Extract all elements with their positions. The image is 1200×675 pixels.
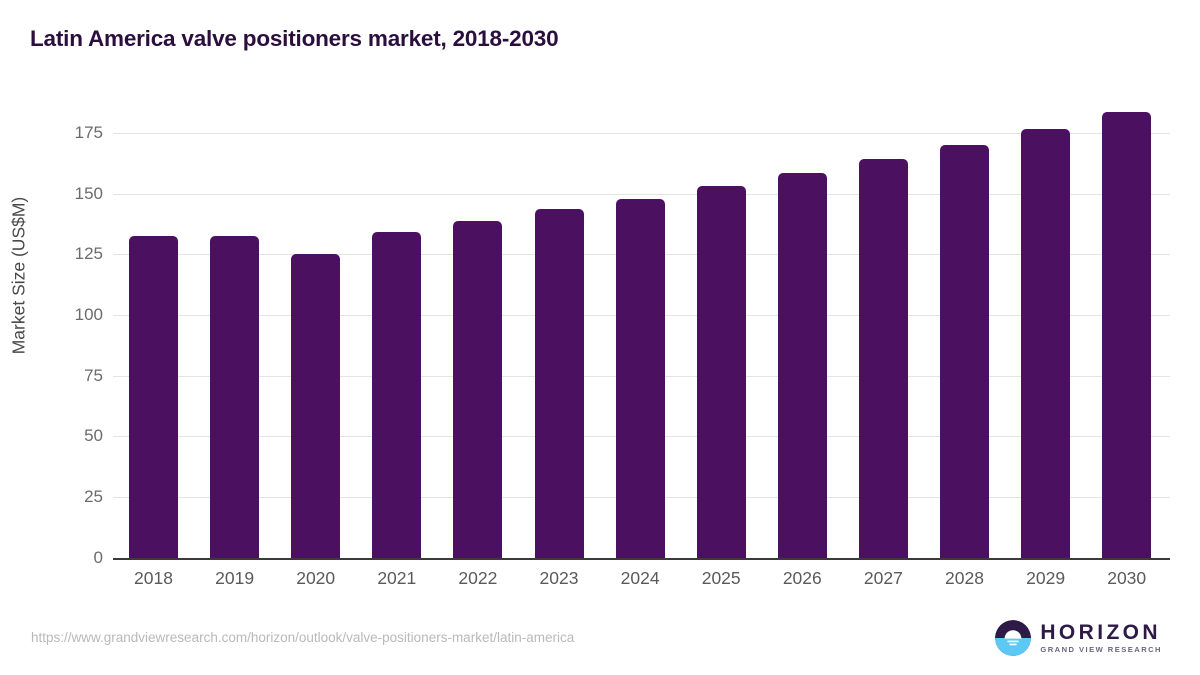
bar-2026[interactable]	[778, 173, 827, 558]
x-axis: 2018 2019 2020 2021 2022 2023 2024 2025 …	[113, 568, 1170, 598]
y-axis-title: Market Size (US$M)	[9, 111, 30, 441]
bar-2023[interactable]	[535, 209, 584, 558]
x-tick-label-2020: 2020	[296, 568, 335, 589]
x-tick-label-2025: 2025	[702, 568, 741, 589]
horizon-logo[interactable]: HORIZON GRAND VIEW RESEARCH	[995, 617, 1162, 659]
bar-2022[interactable]	[453, 221, 502, 558]
bar-2027[interactable]	[859, 159, 908, 558]
plot-area	[113, 100, 1170, 558]
bar-2019[interactable]	[210, 236, 259, 558]
x-tick-label-2024: 2024	[621, 568, 660, 589]
x-tick-label-2026: 2026	[783, 568, 822, 589]
bar-2020[interactable]	[291, 254, 340, 558]
y-tick-label: 100	[75, 305, 103, 325]
x-tick-label-2029: 2029	[1026, 568, 1065, 589]
bar-series	[113, 100, 1170, 558]
source-url[interactable]: https://www.grandviewresearch.com/horizo…	[31, 630, 574, 645]
y-tick-label: 0	[94, 548, 103, 568]
y-tick-label: 125	[75, 244, 103, 264]
x-tick-label-2019: 2019	[215, 568, 254, 589]
y-tick-label: 75	[84, 366, 103, 386]
y-tick-label: 50	[84, 426, 103, 446]
x-tick-label-2030: 2030	[1107, 568, 1146, 589]
x-tick-label-2022: 2022	[458, 568, 497, 589]
y-tick-label: 150	[75, 184, 103, 204]
x-tick-label-2027: 2027	[864, 568, 903, 589]
bar-2018[interactable]	[129, 236, 178, 558]
bar-2024[interactable]	[616, 199, 665, 558]
x-tick-label-2021: 2021	[377, 568, 416, 589]
y-tick-label: 25	[84, 487, 103, 507]
logo-word: HORIZON	[1040, 622, 1162, 643]
horizon-circle-icon	[995, 620, 1031, 656]
axis-line-x	[113, 558, 1170, 560]
bar-2029[interactable]	[1021, 129, 1070, 558]
bar-2028[interactable]	[940, 145, 989, 558]
chart-card: Latin America valve positioners market, …	[0, 0, 1200, 675]
x-tick-label-2023: 2023	[540, 568, 579, 589]
logo-tagline: GRAND VIEW RESEARCH	[1040, 646, 1162, 654]
y-tick-label: 175	[75, 123, 103, 143]
bar-2021[interactable]	[372, 232, 421, 558]
bar-2025[interactable]	[697, 186, 746, 558]
bar-2030[interactable]	[1102, 112, 1151, 558]
horizon-wordmark: HORIZON GRAND VIEW RESEARCH	[1040, 622, 1162, 654]
page-title: Latin America valve positioners market, …	[30, 26, 558, 52]
x-tick-label-2028: 2028	[945, 568, 984, 589]
x-tick-label-2018: 2018	[134, 568, 173, 589]
